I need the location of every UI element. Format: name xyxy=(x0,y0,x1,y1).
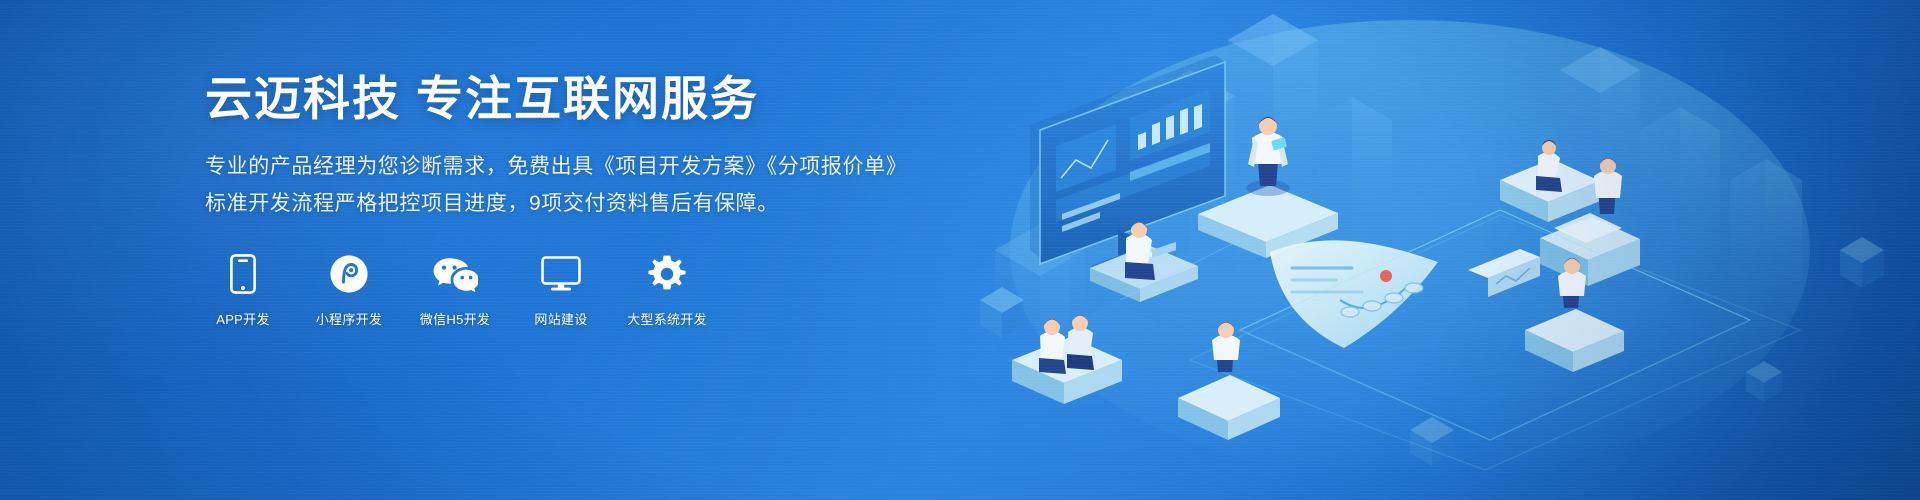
banner-subtitle: 专业的产品经理为您诊断需求，免费出具《项目开发方案》《分项报价单》 标准开发流程… xyxy=(205,149,965,223)
service-label-large-system: 大型系统开发 xyxy=(627,309,707,328)
mobile-phone-icon xyxy=(230,253,256,295)
mini-program-icon xyxy=(329,253,369,295)
banner-copy: 云迈科技 专注互联网服务 专业的产品经理为您诊断需求，免费出具《项目开发方案》《… xyxy=(205,70,965,328)
isometric-data-platform-illustration xyxy=(940,0,1920,500)
hero-banner: 云迈科技 专注互联网服务 专业的产品经理为您诊断需求，免费出具《项目开发方案》《… xyxy=(0,0,1920,500)
service-label-website: 网站建设 xyxy=(534,309,587,328)
service-item-wechat-h5[interactable]: 微信H5开发 xyxy=(417,253,493,328)
wechat-icon xyxy=(432,253,478,295)
monitor-icon xyxy=(541,253,581,295)
service-item-app[interactable]: APP开发 xyxy=(205,253,281,328)
service-label-wechat-h5: 微信H5开发 xyxy=(420,309,490,328)
service-item-large-system[interactable]: 大型系统开发 xyxy=(629,253,705,328)
subtitle-line-2: 标准开发流程严格把控项目进度，9项交付资料售后有保障。 xyxy=(205,186,965,223)
service-list: APP开发 小程序开发 xyxy=(205,253,965,328)
banner-headline: 云迈科技 专注互联网服务 xyxy=(205,70,965,127)
service-label-mini-program: 小程序开发 xyxy=(316,309,383,328)
illustration-container xyxy=(940,0,1920,500)
subtitle-line-1: 专业的产品经理为您诊断需求，免费出具《项目开发方案》《分项报价单》 xyxy=(205,149,965,186)
service-item-mini-program[interactable]: 小程序开发 xyxy=(311,253,387,328)
service-label-app: APP开发 xyxy=(216,309,270,328)
gear-icon xyxy=(647,253,687,295)
service-item-website[interactable]: 网站建设 xyxy=(523,253,599,328)
